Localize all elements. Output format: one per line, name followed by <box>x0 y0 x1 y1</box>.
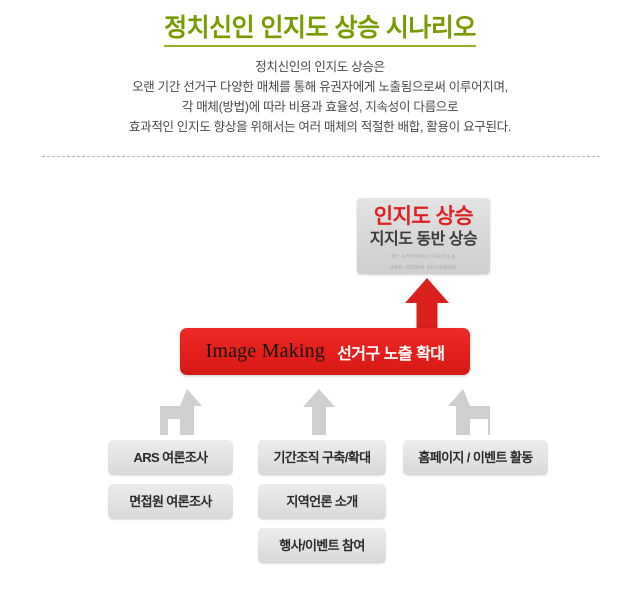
intro-line-2: 오랜 기간 선거구 다양한 매체를 통해 유권자에게 노출됨으로써 이루어지며, <box>0 77 640 97</box>
channel-column-organization: 기간조직 구축/확대 지역언론 소개 행사/이벤트 참여 <box>258 440 386 563</box>
intro-paragraph: 정치신인의 인지도 상승은 오랜 기간 선거구 다양한 매체를 통해 유권자에게… <box>0 57 640 137</box>
outcome-credit-line-1: BY ANTHONY FAIOLA <box>357 254 490 261</box>
channel-box[interactable]: 기간조직 구축/확대 <box>258 440 386 475</box>
strategy-bar-english-label: Image Making <box>205 340 325 363</box>
page-title: 정치신인 인지도 상승 시나리오 <box>0 8 640 44</box>
strategy-bar: Image Making 선거구 노출 확대 <box>180 328 470 375</box>
channel-column-online: 홈페이지 / 이벤트 활동 <box>403 440 548 475</box>
outcome-secondary-label: 지지도 동반 상승 <box>357 229 490 250</box>
channel-box[interactable]: 지역언론 소개 <box>258 484 386 519</box>
outcome-primary-label: 인지도 상승 <box>357 205 490 229</box>
intro-line-4: 효과적인 인지도 향상을 위해서는 여러 매체의 적절한 배합, 활용이 요구된… <box>0 117 640 137</box>
step-up-arrow-right-icon <box>448 389 490 435</box>
straight-up-arrow-icon <box>303 389 335 435</box>
intro-line-3: 각 매체(방법)에 따라 비용과 효율성, 지속성이 다름으로 <box>0 97 640 117</box>
channel-column-survey: ARS 여론조사 면접원 여론조사 <box>108 440 233 519</box>
outcome-box: 인지도 상승 지지도 동반 상승 BY ANTHONY FAIOLA AND R… <box>357 198 490 274</box>
channel-box[interactable]: 면접원 여론조사 <box>108 484 233 519</box>
channel-box[interactable]: ARS 여론조사 <box>108 440 233 475</box>
channel-box[interactable]: 행사/이벤트 참여 <box>258 528 386 563</box>
strategy-bar-korean-label: 선거구 노출 확대 <box>337 340 444 364</box>
red-up-arrow-icon <box>405 278 449 332</box>
step-up-arrow-left-icon <box>160 389 202 435</box>
outcome-credit-line-2: AND ROBIN SHULMAN <box>357 265 490 272</box>
intro-line-1: 정치신인의 인지도 상승은 <box>0 57 640 77</box>
page-title-text: 정치신인 인지도 상승 시나리오 <box>164 14 476 47</box>
channel-box[interactable]: 홈페이지 / 이벤트 활동 <box>403 440 548 475</box>
scenario-diagram: 인지도 상승 지지도 동반 상승 BY ANTHONY FAIOLA AND R… <box>0 170 640 612</box>
section-divider <box>42 156 600 157</box>
